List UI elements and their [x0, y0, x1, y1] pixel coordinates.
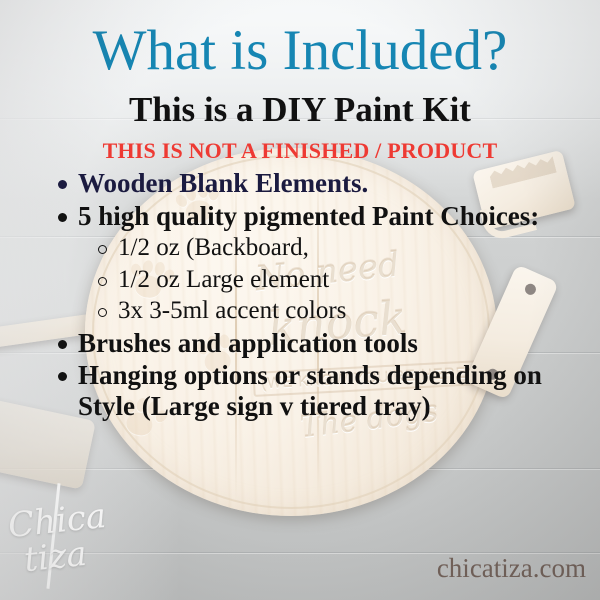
list-item: 5 high quality pigmented Paint Choices:	[52, 201, 572, 232]
list-item: Brushes and application tools	[52, 328, 572, 359]
warning-text: THIS IS NOT A FINISHED / PRODUCT	[0, 138, 600, 164]
website-watermark: chicatiza.com	[437, 553, 586, 584]
list-item: 3x 3-5ml accent colors	[52, 296, 572, 327]
list-item: 1/2 oz (Backboard,	[52, 233, 572, 264]
list-item: 1/2 oz Large element	[52, 265, 572, 296]
included-items-list: Wooden Blank Elements. 5 high quality pi…	[52, 168, 572, 423]
list-item: Wooden Blank Elements.	[52, 168, 572, 199]
page-title: What is Included?	[0, 22, 600, 79]
promo-graphic: No need knock (WE KNOW YOU'RE HERE) The …	[0, 0, 600, 600]
list-item: Hanging options or stands depending on S…	[52, 360, 572, 421]
subtitle: This is a DIY Paint Kit	[0, 92, 600, 129]
